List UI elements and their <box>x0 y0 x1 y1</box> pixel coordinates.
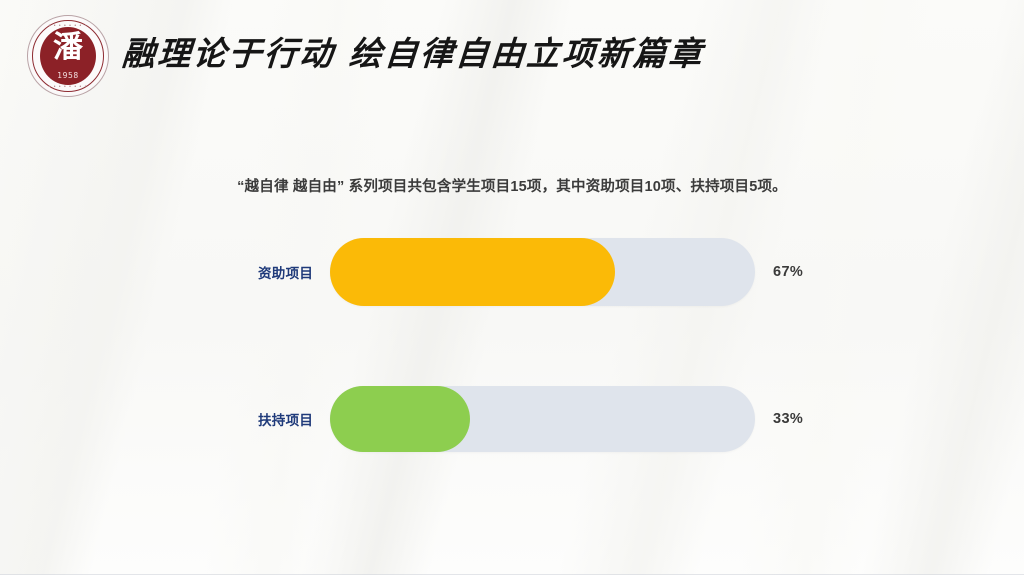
bar-value-label: 33% <box>773 411 803 427</box>
bar-fill <box>330 238 615 306</box>
bar-value-label: 67% <box>773 264 803 280</box>
bar-track <box>330 238 755 306</box>
bar-row: 资助项目 67% <box>258 238 858 306</box>
bar-category-label: 扶持项目 <box>258 409 313 429</box>
horizontal-bar-chart: 资助项目 67% 扶持项目 33% <box>0 0 1024 575</box>
bar-track <box>330 386 755 452</box>
bar-row: 扶持项目 33% <box>258 386 858 452</box>
bar-category-label: 资助项目 <box>258 262 313 282</box>
bar-fill <box>330 386 470 452</box>
slide-canvas: • • • • • • • • • • • • • • • • 潘 1958 融… <box>0 0 1024 575</box>
